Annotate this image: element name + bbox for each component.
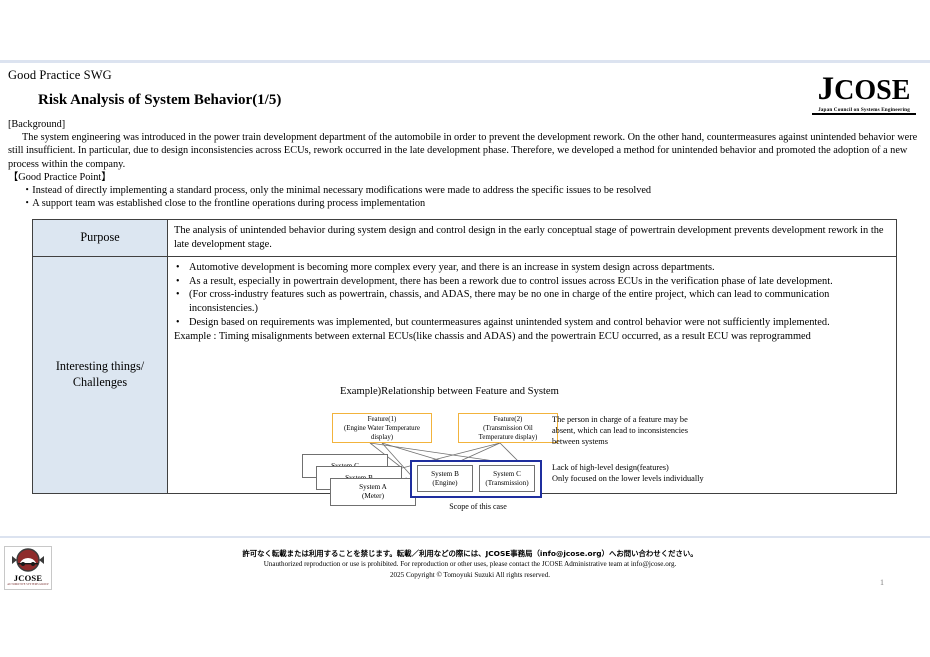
scope-system-box-c-label: System C bbox=[493, 470, 521, 479]
jcose-logo: JCOSE Japan Council on Systems Engineeri… bbox=[802, 72, 926, 116]
example-line: Example : Timing misalignments between e… bbox=[174, 330, 890, 344]
footer-line-english: Unauthorized reproduction or use is proh… bbox=[150, 559, 790, 570]
good-practice-heading: 【Good Practice Point】 bbox=[8, 171, 920, 184]
swg-label: Good Practice SWG bbox=[8, 68, 112, 83]
jcose-logo-rest: COSE bbox=[834, 75, 910, 106]
diagram-note-1: The person in charge of a feature may be… bbox=[552, 415, 688, 448]
scope-caption: Scope of this case bbox=[416, 502, 540, 511]
row-header-challenges-line1: Interesting things/ bbox=[35, 359, 165, 375]
list-item: As a result, especially in powertrain de… bbox=[187, 275, 890, 289]
feature-box-1: Feature(1) (Engine Water Temperature dis… bbox=[332, 413, 432, 443]
feature-system-diagram: Example)Relationship between Feature and… bbox=[170, 386, 870, 526]
page-number: 1 bbox=[880, 578, 884, 587]
feature-box-1-line1: Feature(1) bbox=[334, 416, 430, 425]
scope-system-box-b: System B (Engine) bbox=[417, 465, 473, 492]
row-header-challenges: Interesting things/ Challenges bbox=[33, 257, 168, 494]
diagram-note-1-line3: between systems bbox=[552, 437, 688, 448]
list-item: (For cross-industry features such as pow… bbox=[187, 288, 890, 315]
list-item: Automotive development is becoming more … bbox=[187, 261, 890, 275]
scope-system-box-c: System C (Transmission) bbox=[479, 465, 535, 492]
footer-text: 許可なく転載または利用することを禁じます。転載／利用などの際には、JCOSE事務… bbox=[150, 548, 790, 581]
diagram-note-2: Lack of high-level design(features) Only… bbox=[552, 463, 704, 485]
feature-box-2-line2: (Transmission Oil bbox=[460, 425, 556, 434]
background-section: [Background] The system engineering was … bbox=[8, 118, 920, 210]
scope-system-box-b-sublabel: (Engine) bbox=[432, 479, 457, 488]
slide-page: Good Practice SWG Risk Analysis of Syste… bbox=[0, 0, 930, 657]
diagram-note-1-line1: The person in charge of a feature may be bbox=[552, 415, 688, 426]
footer-logo-subtext: AUTOMOTIVE SYSTEMS GROUP bbox=[7, 583, 48, 586]
jcose-logo-wordmark: JCOSE bbox=[818, 73, 911, 106]
row-header-purpose: Purpose bbox=[33, 220, 168, 257]
background-paragraph: The system engineering was introduced in… bbox=[8, 131, 920, 171]
diagram-title: Example)Relationship between Feature and… bbox=[340, 386, 559, 397]
diagram-note-2-line2: Only focused on the lower levels individ… bbox=[552, 474, 704, 485]
footer-logo-text: JCOSE bbox=[14, 574, 42, 583]
feature-box-1-line3: display) bbox=[334, 434, 430, 443]
feature-box-2: Feature(2) (Transmission Oil Temperature… bbox=[458, 413, 558, 443]
page-title: Risk Analysis of System Behavior(1/5) bbox=[38, 92, 281, 109]
list-item: Design based on requirements was impleme… bbox=[187, 316, 890, 330]
header-divider bbox=[0, 60, 930, 63]
row-header-challenges-line2: Challenges bbox=[35, 375, 165, 391]
table-row: Purpose The analysis of unintended behav… bbox=[33, 220, 897, 257]
scope-system-box-b-label: System B bbox=[431, 470, 459, 479]
jcose-logo-underline bbox=[812, 113, 916, 114]
good-practice-bullet-1: ・Instead of directly implementing a stan… bbox=[8, 184, 920, 197]
left-system-box-a-label: System A bbox=[359, 483, 387, 492]
scope-system-box-c-sublabel: (Transmission) bbox=[485, 479, 528, 488]
background-heading: [Background] bbox=[8, 118, 920, 131]
car-emblem-icon bbox=[11, 548, 45, 574]
footer-jcose-logo: JCOSE AUTOMOTIVE SYSTEMS GROUP bbox=[4, 546, 52, 590]
challenges-list: Automotive development is becoming more … bbox=[174, 261, 890, 330]
footer-divider bbox=[0, 536, 930, 538]
left-system-box-a: System A (Meter) bbox=[330, 478, 416, 506]
feature-box-2-line1: Feature(2) bbox=[460, 416, 556, 425]
good-practice-bullet-2: ・A support team was established close to… bbox=[8, 197, 920, 210]
diagram-note-1-line2: absent, which can lead to inconsistencie… bbox=[552, 426, 688, 437]
footer-line-copyright: 2025 Copyright © Tomoyuki Suzuki All rig… bbox=[150, 570, 790, 581]
diagram-note-2-line1: Lack of high-level design(features) bbox=[552, 463, 704, 474]
feature-box-1-line2: (Engine Water Temperature bbox=[334, 425, 430, 434]
footer-line-japanese: 許可なく転載または利用することを禁じます。転載／利用などの際には、JCOSE事務… bbox=[150, 548, 790, 559]
jcose-logo-j: J bbox=[818, 71, 835, 107]
row-body-purpose: The analysis of unintended behavior duri… bbox=[168, 220, 897, 257]
feature-box-2-line3: Temperature display) bbox=[460, 434, 556, 443]
left-system-box-a-sublabel: (Meter) bbox=[362, 492, 384, 501]
